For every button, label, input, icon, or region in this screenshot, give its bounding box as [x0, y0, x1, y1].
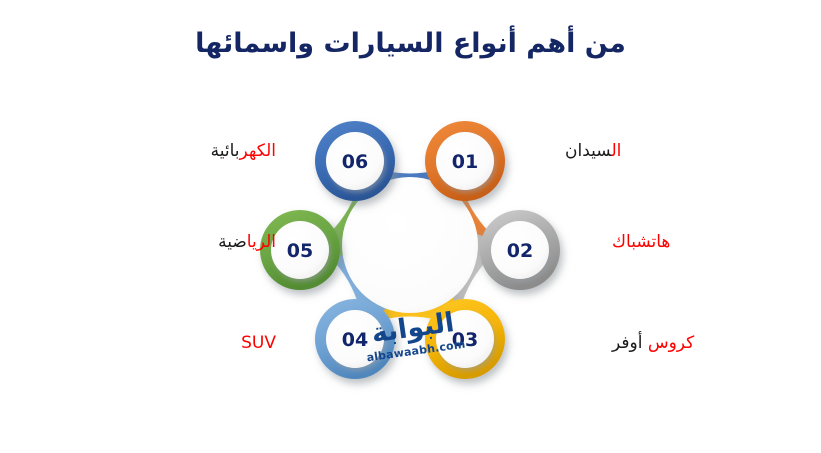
label-electric-accent: الكهر	[239, 141, 276, 161]
label-crossover: كروس أوفر	[612, 333, 694, 353]
label-hatchback: هاتشباك	[612, 232, 670, 252]
node-06-number: 06	[342, 151, 368, 173]
label-sedan-accent: ال	[611, 141, 621, 161]
node-03[interactable]: 03	[425, 299, 505, 379]
node-06[interactable]: 06	[315, 121, 395, 201]
label-sports-accent: الريا	[247, 232, 276, 252]
label-crossover-rest: أوفر	[612, 333, 648, 353]
node-01[interactable]: 01	[425, 121, 505, 201]
label-electric-rest: بائية	[211, 141, 240, 161]
node-02-number: 02	[507, 240, 533, 262]
label-sedan-rest: سيدان	[565, 141, 611, 161]
node-02[interactable]: 02	[480, 210, 560, 290]
node-01-number: 01	[452, 151, 478, 173]
label-suv-accent: SUV	[241, 333, 276, 353]
label-sports: الرياضية	[60, 232, 276, 252]
node-04[interactable]: 04	[315, 299, 395, 379]
node-04-number: 04	[342, 329, 368, 351]
page-title: من أهم أنواع السيارات واسمائها	[0, 28, 821, 59]
node-03-number: 03	[452, 329, 478, 351]
label-sports-rest: ضية	[218, 232, 247, 252]
label-crossover-accent: كروس	[648, 333, 694, 353]
label-suv: SUV	[120, 333, 276, 353]
label-hatchback-accent: هاتشباك	[612, 232, 670, 252]
node-05-number: 05	[287, 240, 313, 262]
label-sedan: السيدان	[565, 141, 621, 161]
label-electric: الكهربائية	[60, 141, 276, 161]
